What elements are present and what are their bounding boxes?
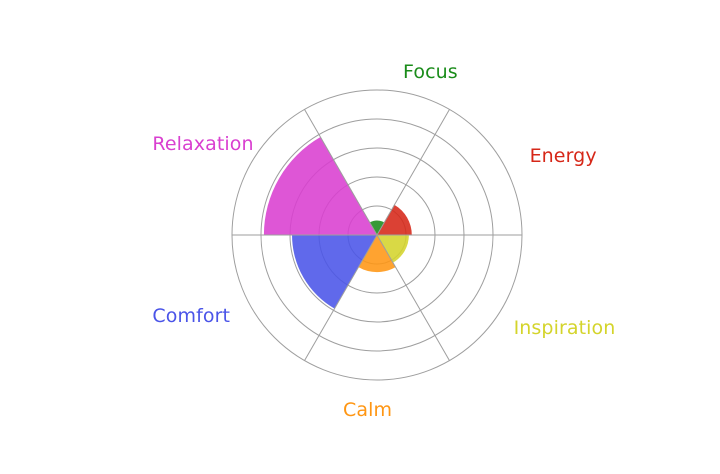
axis-label-comfort: Comfort [152,307,230,326]
polar-chart: Focus Energy Inspiration Calm Comfort Re… [0,0,720,474]
axis-label-focus: Focus [403,63,458,82]
axis-label-relaxation: Relaxation [152,135,253,154]
axis-label-inspiration: Inspiration [514,319,616,338]
axis-label-energy: Energy [530,147,597,166]
axis-label-calm: Calm [343,401,392,420]
